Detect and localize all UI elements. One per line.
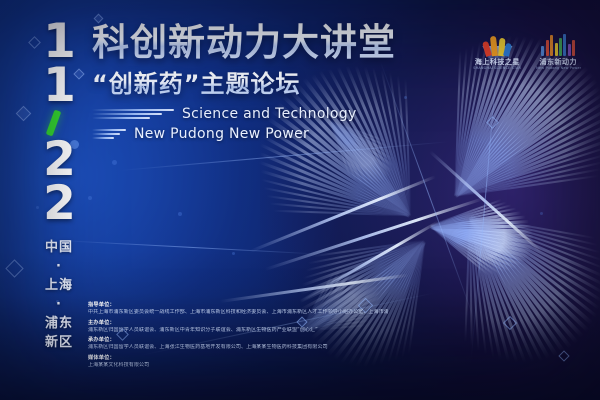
english-title-2: New Pudong New Power <box>134 126 309 142</box>
location-line: · <box>26 295 92 314</box>
credit-entry: 媒体单位：上海某某文化科技有限公司 <box>88 355 388 370</box>
credit-text: 中共上海市浦东新区委员会统一战线工作部、上海市浦东新区科技和经济委员会、上海市浦… <box>88 309 388 317</box>
logo-group: 海上科技之星 SHANGHAI SCIENCE STAR 浦东新动力 New P… <box>472 30 582 71</box>
credit-label: 媒体单位： <box>88 355 388 362</box>
location-line: 中国 <box>26 238 92 257</box>
english-line-2-row: New Pudong New Power <box>92 126 422 142</box>
credit-entry: 主办单位：浦东新区归国留学人员联谊会、浦东新区中青年知识分子联谊会、浦东新区生物… <box>88 320 388 335</box>
decorative-bars-2 <box>92 129 126 140</box>
credit-text: 浦东新区归国留学人员联谊会、上海张江生物医药基地开发有限公司、上海某某生物医药科… <box>88 344 388 352</box>
credits-block: 指导单位：中共上海市浦东新区委员会统一战线工作部、上海市浦东新区科技和经济委员会… <box>88 302 388 372</box>
flame-boat-icon <box>484 30 510 56</box>
credit-text: 浦东新区归国留学人员联谊会、浦东新区中青年知识分子联谊会、浦东新区生物医药产业联… <box>88 327 388 335</box>
credit-entry: 指导单位：中共上海市浦东新区委员会统一战线工作部、上海市浦东新区科技和经济委员会… <box>88 302 388 317</box>
event-location: 中国·上海·浦东新区 <box>26 238 92 352</box>
credit-label: 承办单位： <box>88 337 388 344</box>
decorative-bars-1 <box>92 109 174 120</box>
main-title: 科创新动力大讲堂 <box>92 22 422 64</box>
date-digit-day-2: 2 <box>26 182 92 226</box>
headline-block: 科创新动力大讲堂 “创新药”主题论坛 Science and Technolog… <box>92 22 422 142</box>
location-line: 新区 <box>26 333 92 352</box>
color-bars-icon <box>541 30 575 56</box>
event-date-block: 1 1 2 2 中国·上海·浦东新区 <box>26 20 92 352</box>
sub-title: “创新药”主题论坛 <box>92 69 422 99</box>
dot-decoration <box>112 160 117 165</box>
english-title-1: Science and Technology <box>182 106 357 122</box>
logo-label-cn-1: 海上科技之星 <box>475 58 520 66</box>
logo-label-cn-2: 浦东新动力 <box>540 58 578 66</box>
credit-entry: 承办单位：浦东新区归国留学人员联谊会、上海张江生物医药基地开发有限公司、上海某某… <box>88 337 388 352</box>
location-line: · <box>26 257 92 276</box>
shanghai-institute-logo: 海上科技之星 SHANGHAI SCIENCE STAR <box>472 30 522 71</box>
english-line-1-row: Science and Technology <box>92 106 422 122</box>
location-line: 浦东 <box>26 314 92 333</box>
date-digit-month-2: 1 <box>26 64 92 108</box>
dot-decoration <box>178 212 182 216</box>
dot-decoration <box>540 212 543 215</box>
event-poster: 1 1 2 2 中国·上海·浦东新区 科创新动力大讲堂 “创新药”主题论坛 Sc… <box>0 0 600 400</box>
logo-label-en-2: New Pudong New Power <box>536 66 581 71</box>
credit-label: 指导单位： <box>88 302 388 309</box>
location-line: 上海 <box>26 276 92 295</box>
new-pudong-new-power-logo: 浦东新动力 New Pudong New Power <box>535 30 582 71</box>
credit-text: 上海某某文化科技有限公司 <box>88 362 388 370</box>
credit-label: 主办单位： <box>88 320 388 327</box>
dot-decoration <box>232 252 235 255</box>
date-separator-slash <box>26 108 92 138</box>
logo-label-en-1: SHANGHAI SCIENCE STAR <box>473 66 521 71</box>
